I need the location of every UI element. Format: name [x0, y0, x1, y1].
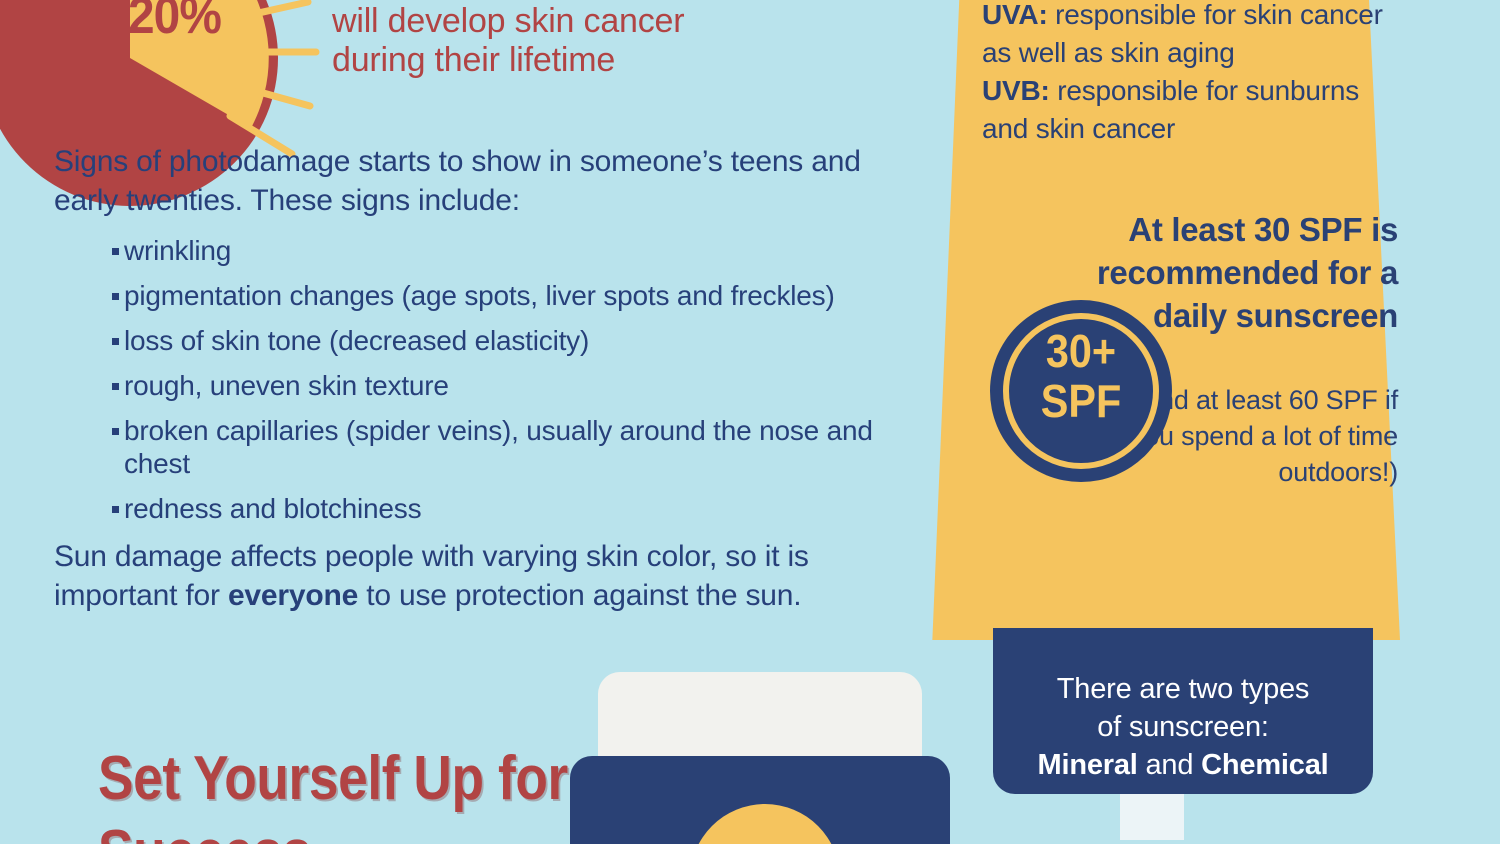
list-item: pigmentation changes (age spots, liver s… — [112, 279, 924, 312]
jar-lid — [598, 672, 922, 760]
pie-headline-line2: during their lifetime — [332, 41, 892, 80]
sun-damage-paragraph: Sun damage affects people with varying s… — [54, 537, 924, 615]
badge-line-1: 30+ — [999, 326, 1163, 376]
types-line-1: There are two types — [993, 670, 1373, 708]
spf-30-badge: 30+ SPF — [990, 300, 1172, 482]
uva-line: UVA: responsible for skin cancer as well… — [982, 0, 1412, 72]
types-line-2: of sunscreen: — [993, 708, 1373, 746]
sunscreen-types-box: There are two types of sunscreen: Minera… — [993, 628, 1373, 794]
uvb-line: UVB: responsible for sunburns and skin c… — [982, 72, 1412, 148]
types-line-3: Mineral and Chemical — [993, 746, 1373, 784]
badge-line-2: SPF — [999, 376, 1163, 426]
uv-definitions: UV: ultraviolet light UVA: responsible f… — [982, 0, 1412, 148]
pie-percent-label: 20% — [128, 0, 221, 46]
list-item: redness and blotchiness — [112, 492, 924, 525]
uvb-label: UVB: — [982, 75, 1050, 106]
pie-headline-line1: will develop skin cancer — [332, 2, 892, 41]
outro-text-after: to use protection against the sun. — [358, 579, 801, 612]
badge-text: 30+ SPF — [999, 326, 1163, 426]
list-item: broken capillaries (spider veins), usual… — [112, 414, 924, 480]
type-mineral: Mineral — [1038, 749, 1138, 781]
list-item: loss of skin tone (decreased elasticity) — [112, 324, 924, 357]
photodamage-section: Signs of photodamage starts to show in s… — [54, 142, 924, 615]
sunscreen-jar-illustration — [570, 672, 950, 844]
uva-label: UVA: — [982, 0, 1048, 30]
list-item: rough, uneven skin texture — [112, 369, 924, 402]
outro-emphasis: everyone — [228, 579, 358, 612]
list-item: wrinkling — [112, 234, 924, 267]
type-chemical: Chemical — [1201, 749, 1328, 781]
pie-headline: will develop skin cancer during their li… — [332, 2, 892, 80]
types-joiner: and — [1138, 749, 1202, 781]
infographic-canvas: 20% will develop skin cancer during thei… — [0, 0, 1500, 844]
photodamage-intro: Signs of photodamage starts to show in s… — [54, 142, 924, 220]
photodamage-signs-list: wrinkling pigmentation changes (age spot… — [54, 234, 924, 525]
section-title-set-yourself-up: Set Yourself Up for Success — [98, 742, 648, 844]
